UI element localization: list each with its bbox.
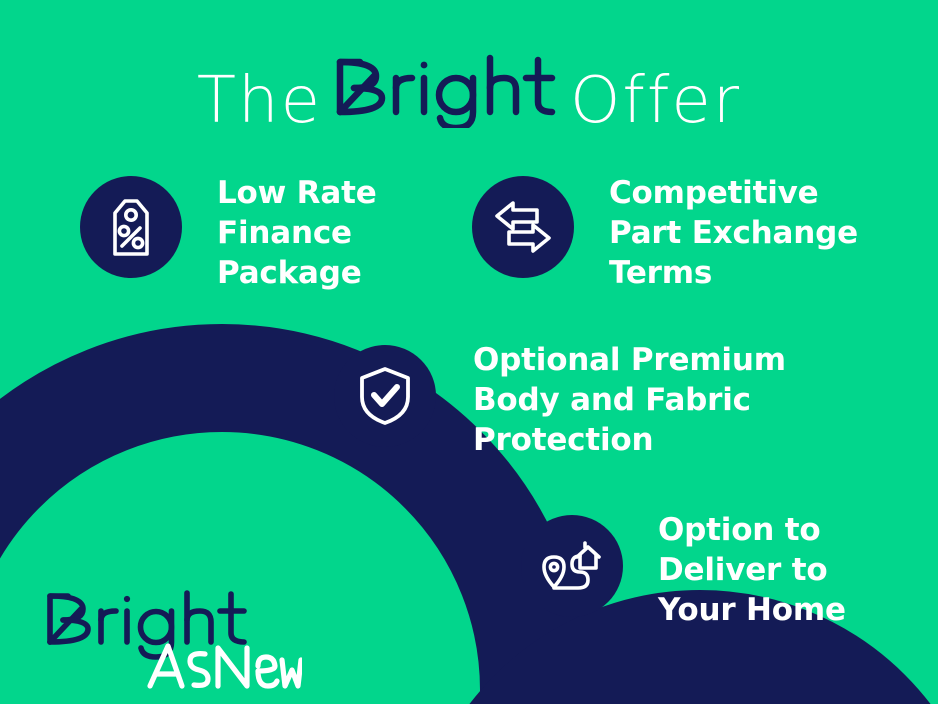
offer-poster: The: [0, 0, 938, 704]
feature-item-label: Optional Premium Body and Fabric Protect…: [473, 340, 786, 460]
decorative-arc: [470, 650, 930, 704]
shield-check-icon: [334, 345, 436, 447]
feature-item-label: Competitive Part Exchange Terms: [609, 173, 858, 293]
feature-item-label: Option to Deliver to Your Home: [658, 510, 846, 630]
title-brand-logotype: [330, 50, 562, 132]
title-suffix: Offer: [570, 69, 741, 133]
feature-item-home-delivery: Option to Deliver to Your Home: [521, 515, 846, 630]
feature-item-low-rate-finance: Low Rate Finance Package: [80, 176, 377, 293]
exchange-arrows-icon: [472, 176, 574, 278]
brand-logo-secondary: [150, 646, 301, 686]
price-tag-percent-icon: [80, 176, 182, 278]
feature-item-part-exchange: Competitive Part Exchange Terms: [472, 176, 858, 293]
feature-item-label: Low Rate Finance Package: [217, 173, 377, 293]
feature-item-body-fabric-protection: Optional Premium Body and Fabric Protect…: [334, 345, 786, 460]
delivery-route-home-icon: [521, 515, 623, 617]
brand-logo-primary: [50, 593, 244, 657]
title-prefix: The: [197, 69, 322, 133]
page-title: The: [0, 44, 938, 133]
brand-logo: [42, 582, 302, 692]
